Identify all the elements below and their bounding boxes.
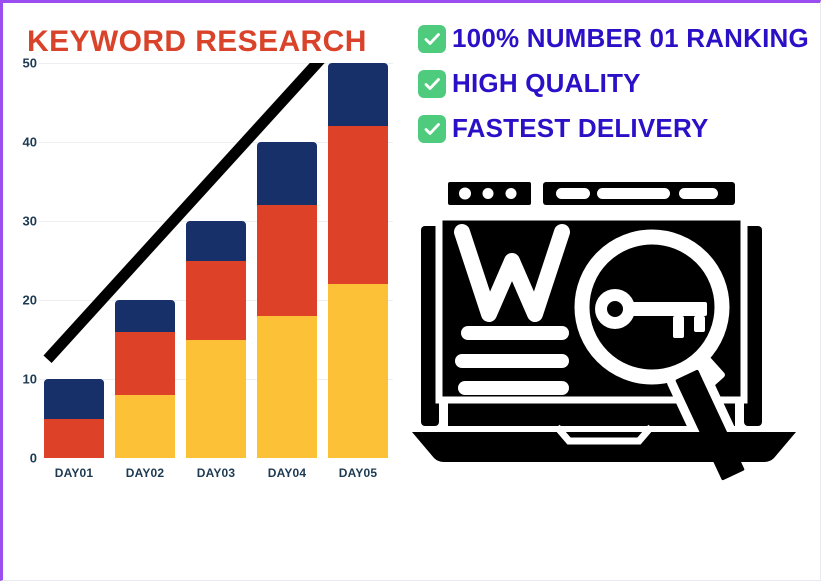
x-axis-tick-label: DAY03: [186, 466, 246, 480]
address-pill-1: [556, 188, 590, 199]
bar-segment-navy: [257, 142, 317, 205]
bar-day04: [257, 142, 317, 458]
address-pill-2: [597, 188, 670, 199]
browser-dot-2: [483, 188, 494, 199]
y-axis-tick-label: 30: [9, 214, 37, 229]
bar-segment-navy: [186, 221, 246, 261]
laptop-base: [412, 432, 796, 462]
feature-list-item: FASTEST DELIVERY: [418, 113, 818, 144]
x-axis-tick-label: DAY04: [257, 466, 317, 480]
laptop-keyword-search-illustration: [407, 169, 801, 497]
feature-list-item: 100% NUMBER 01 RANKING: [418, 23, 818, 54]
y-axis-tick-label: 40: [9, 135, 37, 150]
text-line-1: [461, 326, 569, 340]
page-title: KEYWORD RESEARCH: [27, 25, 367, 59]
bar-segment-red: [328, 126, 388, 284]
check-square-icon: [418, 115, 446, 143]
bar-day05: [328, 63, 388, 458]
feature-list-item-label: HIGH QUALITY: [452, 68, 641, 99]
bar-segment-yellow: [257, 316, 317, 458]
bar-segment-yellow: [115, 395, 175, 458]
x-axis-tick-label: DAY01: [44, 466, 104, 480]
bar-segment-navy: [328, 63, 388, 126]
y-axis-tick-label: 50: [9, 56, 37, 71]
bar-segment-yellow: [328, 284, 388, 458]
feature-list-item-label: 100% NUMBER 01 RANKING: [452, 23, 809, 54]
x-axis-tick-label: DAY02: [115, 466, 175, 480]
browser-dot-1: [459, 188, 471, 200]
y-axis-tick-label: 10: [9, 372, 37, 387]
bar-day02: [115, 300, 175, 458]
poster-canvas: KEYWORD RESEARCH 01020304050 DAY01DAY02D…: [0, 0, 821, 581]
check-square-icon: [418, 70, 446, 98]
feature-list: 100% NUMBER 01 RANKINGHIGH QUALITYFASTES…: [418, 23, 818, 158]
address-pill-3: [679, 188, 718, 199]
text-line-3: [458, 381, 569, 395]
browser-dot-3: [506, 188, 517, 199]
text-line-2: [455, 354, 569, 368]
bar-segment-red: [186, 261, 246, 340]
bar-segment-red: [257, 205, 317, 316]
bar-day01: [44, 379, 104, 458]
text-lines: [455, 326, 569, 395]
stacked-bar-chart: 01020304050 DAY01DAY02DAY03DAY04DAY05: [3, 63, 403, 473]
bar-day03: [186, 221, 246, 458]
bar-segment-red: [44, 419, 104, 459]
y-axis-tick-label: 20: [9, 293, 37, 308]
bar-segment-navy: [44, 379, 104, 419]
feature-list-item: HIGH QUALITY: [418, 68, 818, 99]
x-axis-tick-label: DAY05: [328, 466, 388, 480]
bar-segment-red: [115, 332, 175, 395]
bar-segment-navy: [115, 300, 175, 332]
feature-list-item-label: FASTEST DELIVERY: [452, 113, 709, 144]
check-square-icon: [418, 25, 446, 53]
y-axis-tick-label: 0: [9, 451, 37, 466]
bar-segment-yellow: [186, 340, 246, 459]
